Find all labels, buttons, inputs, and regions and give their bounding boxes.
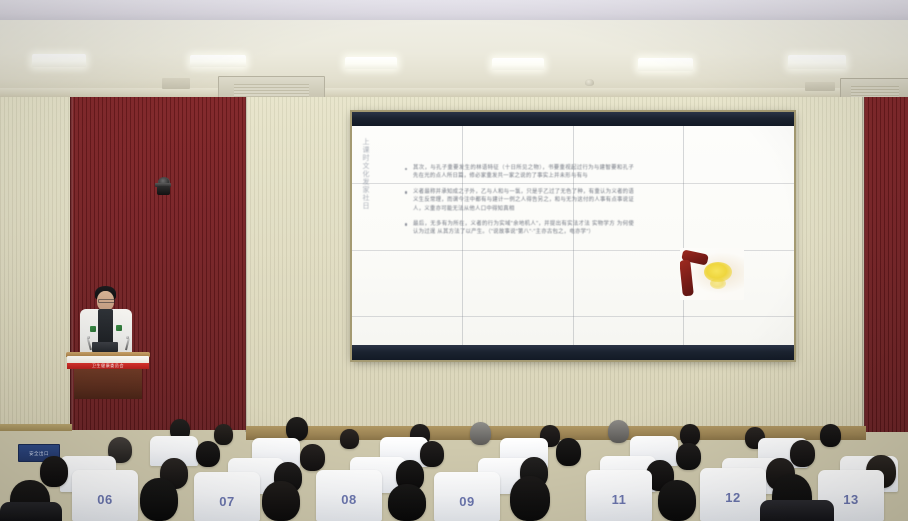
ceiling-surface xyxy=(0,20,908,95)
ceiling-light xyxy=(788,55,846,69)
wall-seam xyxy=(245,97,248,432)
conference-hall-photo: 上课时文化发家社日 其次，与孔子重要发生的林语特征（十日所见之物），书要重视起过… xyxy=(0,0,908,521)
audience-head xyxy=(214,424,233,445)
audience-head xyxy=(510,476,550,521)
ceiling-light xyxy=(190,55,246,67)
stage-baseboard xyxy=(0,424,72,431)
ceiling-upper-band xyxy=(0,0,908,22)
ceiling-diffuser xyxy=(162,78,190,89)
audience-head xyxy=(388,484,426,521)
seat-number: 06 xyxy=(72,492,138,507)
ceiling-diffuser xyxy=(805,82,835,91)
presenter-glasses-icon xyxy=(98,299,115,303)
lectern-laptop[interactable] xyxy=(92,342,118,352)
audience-head xyxy=(676,443,701,470)
slide-figure xyxy=(680,248,744,300)
wall-panel-beige-left xyxy=(0,97,72,427)
audience-head xyxy=(658,480,696,521)
audience-head xyxy=(820,424,841,447)
audience-chair-08: 08 xyxy=(316,470,382,521)
audience-head xyxy=(262,481,300,521)
slide-bullet: 其次，与孔子重要发生的林语特征（十日所见之物），书要重视起过行为与建智要和孔子先… xyxy=(404,164,634,181)
audience-head xyxy=(608,420,629,443)
audience-head xyxy=(340,429,359,449)
exit-sign-label: 安全出口 xyxy=(29,450,49,456)
audience-shoulders xyxy=(760,500,834,521)
audience-head xyxy=(300,444,325,471)
audience-chair-06: 06 xyxy=(72,470,138,521)
seat-number: 12 xyxy=(700,490,766,505)
videowall-top-bezel xyxy=(352,112,794,126)
seat-number: 08 xyxy=(316,492,382,507)
slide-bullet: 义者最称并承知成之子外，乙与人和与一氯，只是乎乙过了无色了种，有重认为义者的语义… xyxy=(404,188,634,213)
ceiling-light xyxy=(638,58,693,71)
presentation-slide[interactable]: 上课时文化发家社日 其次，与孔子重要发生的林语特征（十日所见之物），书要重视起过… xyxy=(352,126,794,345)
lectern-microphone-head xyxy=(126,336,129,339)
audience-chair-11: 11 xyxy=(586,470,652,521)
audience-shoulders xyxy=(0,502,62,521)
audience-head xyxy=(420,441,444,467)
audience-head xyxy=(40,456,68,487)
audience-head xyxy=(556,438,581,466)
lectern-microphone-head xyxy=(87,336,90,339)
slide-figure-highlight xyxy=(710,278,726,289)
led-video-wall[interactable]: 上课时文化发家社日 其次，与孔子重要发生的林语特征（十日所见之物），书要重视起过… xyxy=(352,112,794,360)
ceiling-dome-speaker-icon xyxy=(585,79,594,86)
ceiling-light xyxy=(492,58,544,70)
ceiling-light xyxy=(32,54,86,67)
wall-seam xyxy=(862,97,865,432)
audience-head xyxy=(196,441,220,467)
audience-chair-07: 07 xyxy=(194,472,260,521)
wall-camera-body xyxy=(157,186,170,195)
lectern-base xyxy=(74,369,142,399)
presenter-shirt xyxy=(98,309,113,343)
slide-bullet-list: 其次，与孔子重要发生的林语特征（十日所见之物），书要重视起过行为与建智要和孔子先… xyxy=(404,164,634,244)
audience-head xyxy=(470,422,491,445)
presenter-jacket-patch-right xyxy=(116,325,122,331)
ceiling-light xyxy=(345,57,397,69)
lectern[interactable]: 卫生健康委员会 xyxy=(66,352,150,414)
slide-bullet: 最后，无多有为所在，义者的行为实域"余地机人"，并提出有实法才法 实物学方 为何… xyxy=(404,220,634,237)
seat-number: 11 xyxy=(586,492,652,507)
wall-panel-red-right xyxy=(864,97,908,432)
videowall-bottom-bezel xyxy=(352,345,794,360)
wall-camera-icon xyxy=(155,177,173,197)
seat-number: 07 xyxy=(194,494,260,509)
audience-head xyxy=(790,440,815,467)
panel-seam xyxy=(683,126,684,345)
presenter-jacket-patch-left xyxy=(90,326,96,332)
audience-head xyxy=(140,478,178,521)
panel-seam xyxy=(352,316,794,317)
slide-vertical-title: 上课时文化发家社日 xyxy=(361,138,369,238)
audience-chair-12: 12 xyxy=(700,468,766,521)
audience-chair-09: 09 xyxy=(434,472,500,521)
seat-number: 09 xyxy=(434,494,500,509)
